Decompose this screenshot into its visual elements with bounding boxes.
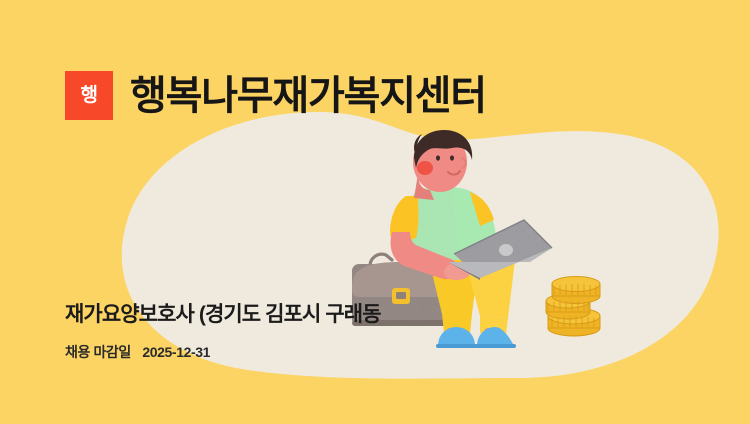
org-initial-text: 행 bbox=[81, 86, 98, 105]
org-initial-badge: 행 bbox=[65, 71, 113, 120]
head-graphic bbox=[413, 130, 472, 200]
deadline-label: 채용 마감일 bbox=[65, 344, 131, 360]
banner-header: 행 행복나무재가복지센터 bbox=[65, 71, 486, 120]
blush bbox=[417, 161, 433, 175]
background-blob bbox=[0, 0, 750, 424]
deadline-value: 2025-12-31 bbox=[142, 344, 210, 360]
arms-graphic bbox=[391, 232, 474, 282]
torso-graphic bbox=[390, 185, 496, 260]
deadline-row: 채용 마감일 2025-12-31 bbox=[65, 345, 210, 359]
job-title: 재가요양보호사 (경기도 김포시 구래동 bbox=[65, 303, 381, 327]
job-posting-banner: 행 행복나무재가복지센터 재가요양보호사 (경기도 김포시 구래동 채용 마감일… bbox=[0, 0, 750, 424]
shoes-graphic bbox=[436, 327, 516, 348]
org-title: 행복나무재가복지센터 bbox=[130, 76, 486, 116]
legs-graphic bbox=[426, 248, 516, 340]
laptop-graphic bbox=[448, 220, 552, 280]
coin-stack-graphic bbox=[546, 277, 600, 337]
